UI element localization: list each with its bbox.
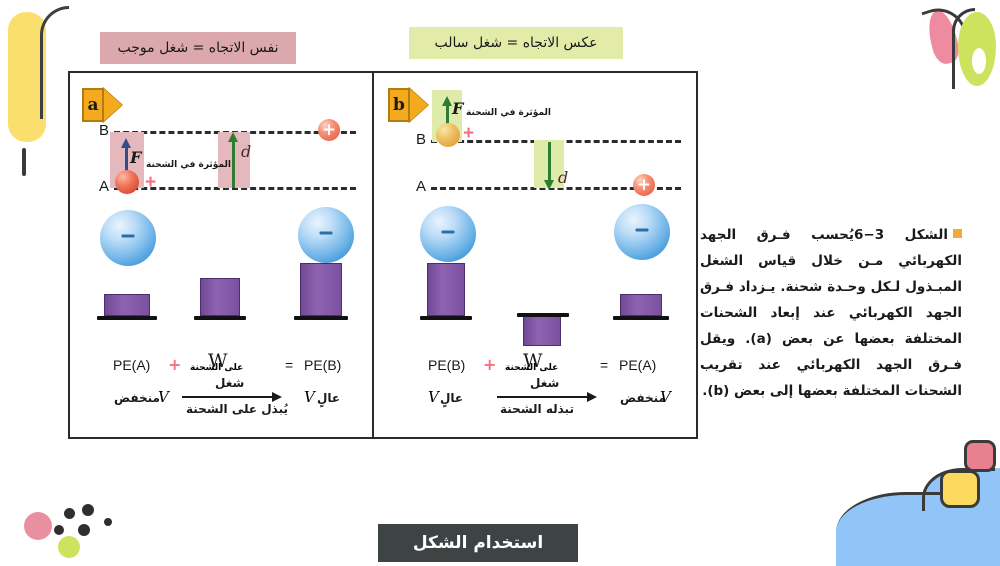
decor-dark-dot-2 xyxy=(82,504,94,516)
panel-a-eq-right-term: PE(B) xyxy=(304,357,341,373)
figure-caption: الشكل 3−6يُحسب فـرق الجهد الكهربائي مـن … xyxy=(700,222,962,404)
panel-b-distance-arrow-shaft xyxy=(548,142,551,182)
panel-b-arrow-label-bottom: تبذله الشحنة xyxy=(500,402,574,416)
panel-a-charge-at-B: + xyxy=(318,119,340,141)
panel-b-right-potential-symbol: V xyxy=(660,388,671,406)
panel-b-left-potential-word: عالٍ xyxy=(440,391,463,405)
panel-a-sphere-right-minus xyxy=(320,231,333,234)
panel-b-energy-bar-2 xyxy=(523,316,561,346)
panel-b-flag: b xyxy=(388,88,428,122)
panel-b-distance-arrow-head xyxy=(544,180,554,190)
panel-a-left-potential-word: منخفض xyxy=(114,391,160,405)
panel-a-force-symbol: F xyxy=(130,148,141,167)
panel-b-charge-at-B xyxy=(436,123,460,147)
panel-b-sphere-left-minus xyxy=(442,230,455,233)
panel-b-force-caption: المؤثرة في الشحنة xyxy=(466,108,551,118)
panel-a-distance-symbol: d xyxy=(241,142,251,161)
panel-a-flag: a xyxy=(82,88,122,122)
panel-b-eq-right-term: PE(A) xyxy=(619,357,656,373)
banner-same-direction-positive-work: نفس الاتجاه = شغل موجب xyxy=(100,32,296,64)
panel-b-force-symbol: F xyxy=(452,99,463,118)
panel-b-force-arrow-head xyxy=(442,96,452,106)
panel-b-charge-plus-sign: + xyxy=(463,124,474,143)
panel-a-label-A: A xyxy=(99,178,109,195)
panel-b-left-potential-symbol: V xyxy=(428,388,439,406)
decor-dark-dot-4 xyxy=(54,525,64,535)
panel-a-eq-left-term: PE(A) xyxy=(113,357,150,373)
panel-a-eq-equals: = xyxy=(285,357,293,373)
decor-green-outline xyxy=(952,8,975,89)
decor-red-square xyxy=(964,440,996,472)
panel-a-force-arrow-head xyxy=(121,138,131,148)
banner-positive-text: نفس الاتجاه = شغل موجب xyxy=(118,40,279,56)
panel-b-sphere-right-body xyxy=(614,204,670,260)
panel-a-energy-bar-1 xyxy=(104,294,150,316)
panel-a-flag-letter: a xyxy=(82,88,104,122)
panel-a-right-potential-symbol: V xyxy=(304,388,315,406)
panel-b-energy-base-1 xyxy=(420,316,472,320)
panel-divider xyxy=(372,71,374,439)
panel-a-energy-base-3 xyxy=(294,316,348,320)
panel-b-negative-sphere-left xyxy=(420,206,476,262)
decor-dark-dot-1 xyxy=(64,508,75,519)
decor-dark-tick xyxy=(22,148,26,176)
panel-a-distance-arrow-head xyxy=(228,132,238,142)
panel-b-process-arrow-line xyxy=(497,396,589,398)
decor-dark-dot-5 xyxy=(104,518,112,526)
banner-opposite-direction-negative-work: عكس الاتجاه = شغل سالب xyxy=(409,27,623,59)
panel-a-arrow-label-top: شغل xyxy=(215,376,244,390)
banner-negative-text: عكس الاتجاه = شغل سالب xyxy=(435,35,598,51)
panel-b-energy-bar-1 xyxy=(427,263,465,316)
panel-b-distance-symbol: d xyxy=(558,168,568,187)
panel-a-arrow-label-bottom: يُبذل على الشحنة xyxy=(186,402,288,416)
panel-a-left-potential-symbol: V xyxy=(158,388,169,406)
panel-a-negative-sphere-left xyxy=(100,210,156,266)
panel-a-label-B: B xyxy=(99,122,109,139)
panel-b-energy-base-3 xyxy=(613,316,669,320)
panel-a-negative-sphere-right xyxy=(298,207,354,263)
decor-yellow-square xyxy=(940,470,980,508)
panel-b-arrow-label-top: شغل xyxy=(530,376,559,390)
decor-pink-dot xyxy=(24,512,52,540)
caption-body: يُحسب فـرق الجهد الكهربائي مـن خلال قياس… xyxy=(700,227,962,399)
caption-bullet-icon xyxy=(953,229,962,238)
panel-b-eq-left-term: PE(B) xyxy=(428,357,465,373)
decor-green-dot xyxy=(58,536,80,558)
decor-dark-curve-topleft xyxy=(40,6,69,119)
bottom-banner-use-the-figure: استخدام الشكل xyxy=(378,524,578,562)
panel-a-process-arrow-tip xyxy=(272,392,282,402)
panel-a-flag-triangle xyxy=(102,87,122,123)
panel-b-charge-at-A-plus: + xyxy=(633,174,655,196)
panel-a-energy-bar-2 xyxy=(200,278,240,316)
panel-a-charge-at-B-plus: + xyxy=(318,119,340,141)
panel-b-label-A: A xyxy=(416,178,426,195)
panel-a-eq-plus: + xyxy=(168,355,181,374)
panel-a-sphere-right-body xyxy=(298,207,354,263)
panel-a-sphere-left-minus xyxy=(122,234,135,237)
panel-b-flag-triangle xyxy=(408,87,428,123)
caption-figure-label: الشكل 3−6 xyxy=(854,227,948,243)
panel-b-eq-plus: + xyxy=(483,355,496,374)
panel-a-energy-base-2 xyxy=(194,316,246,320)
panel-b-label-B: B xyxy=(416,131,426,148)
panel-b-negative-sphere-right xyxy=(614,204,670,260)
panel-a-charge-plus-sign: + xyxy=(145,173,156,192)
panel-a-charge-at-A xyxy=(115,170,139,194)
panel-b-energy-bar-3 xyxy=(620,294,662,316)
panel-a-energy-base-1 xyxy=(97,316,157,320)
panel-a-eq-work-subscript: على الشحنة xyxy=(190,363,243,373)
panel-b-energy-base-2 xyxy=(517,313,569,317)
panel-a-energy-bar-3 xyxy=(300,263,342,316)
panel-a-right-potential-word: عالٍ xyxy=(317,391,340,405)
panel-b-flag-letter: b xyxy=(388,88,410,122)
panel-a-distance-arrow-shaft xyxy=(232,140,235,188)
panel-a-sphere-left-body xyxy=(100,210,156,266)
panel-a-process-arrow-line xyxy=(182,396,274,398)
panel-b-eq-equals: = xyxy=(600,357,608,373)
bottom-banner-label: استخدام الشكل xyxy=(413,533,543,553)
panel-a-force-caption: المؤثرة في الشحنة xyxy=(146,160,231,170)
panel-b-sphere-right-minus xyxy=(636,228,649,231)
panel-b-charge-at-A: + xyxy=(633,174,655,196)
panel-b-sphere-left-body xyxy=(420,206,476,262)
panel-b-process-arrow-tip xyxy=(587,392,597,402)
panel-b-eq-work-subscript: على الشحنة xyxy=(505,363,558,373)
figure-frame xyxy=(68,71,698,439)
decor-dark-dot-3 xyxy=(78,524,90,536)
